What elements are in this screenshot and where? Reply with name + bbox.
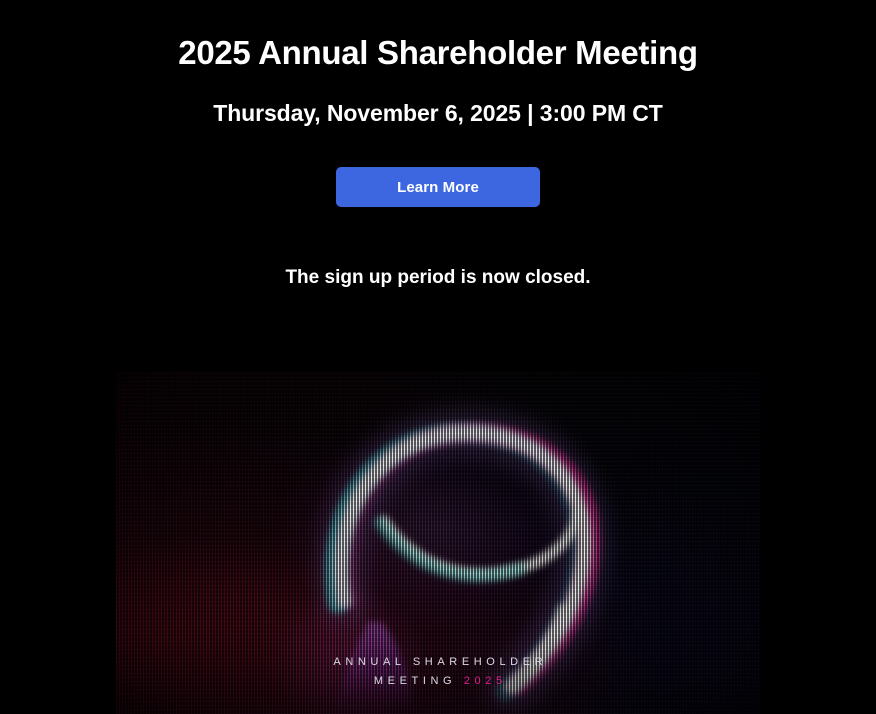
meeting-artwork: ANNUAL SHAREHOLDER MEETING 2025 [116, 371, 760, 714]
meeting-datetime: Thursday, November 6, 2025 | 3:00 PM CT [0, 99, 876, 128]
cta-container: Learn More [0, 167, 876, 207]
shareholder-meeting-page: 2025 Annual Shareholder Meeting Thursday… [0, 0, 876, 714]
artwork-figure-icon [116, 371, 760, 714]
learn-more-button[interactable]: Learn More [336, 167, 540, 207]
signup-closed-notice: The sign up period is now closed. [0, 265, 876, 291]
page-title: 2025 Annual Shareholder Meeting [0, 33, 876, 73]
